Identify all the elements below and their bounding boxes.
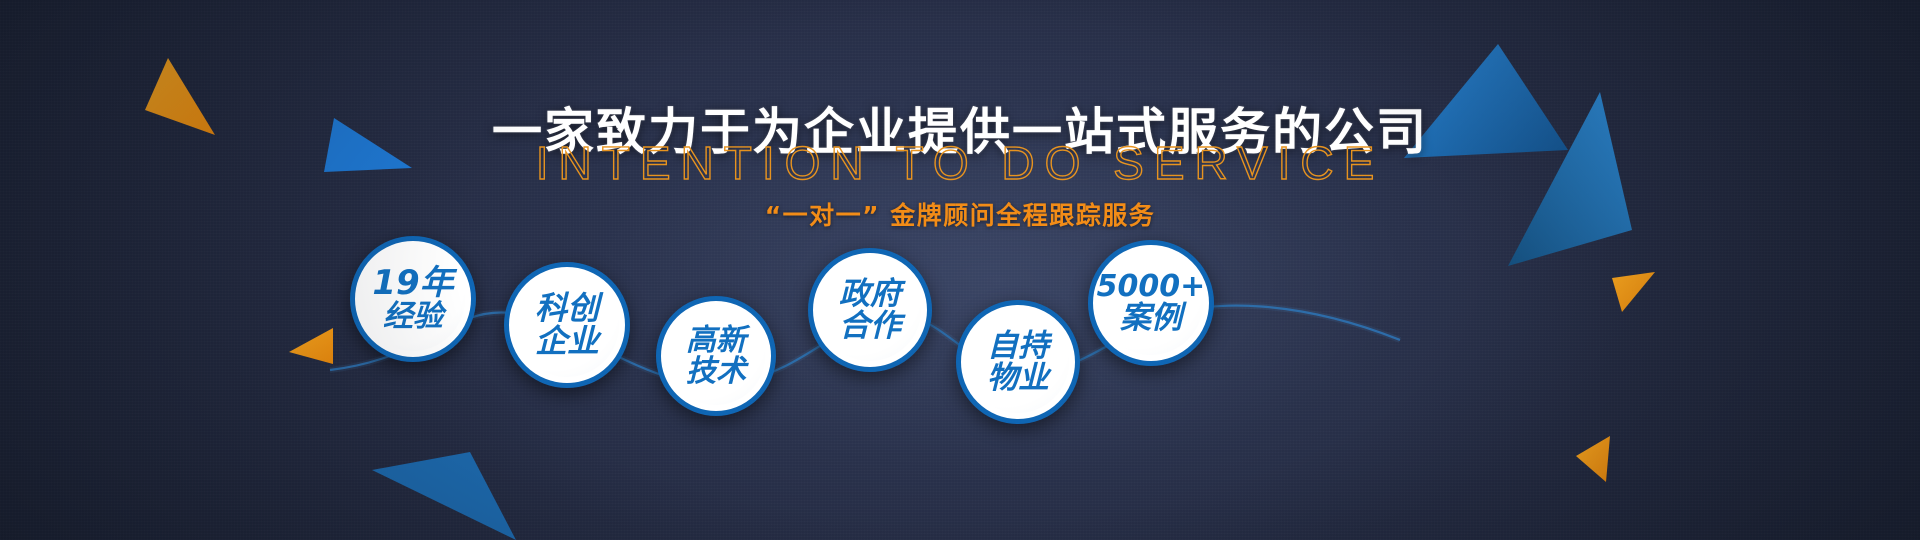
badge-line-secondary: 技术 [686, 356, 746, 387]
badge-circle[interactable]: 科创企业 [504, 262, 630, 388]
badge-circle[interactable]: 政府合作 [808, 248, 932, 372]
hero-banner: 一家致力于为企业提供一站式服务的公司 INTENTION TO DO SERVI… [0, 0, 1920, 540]
badge-line-primary: 科创 [535, 292, 599, 325]
badge-group: 19年经验科创企业高新技术政府合作自持物业5000+案例 [0, 0, 1920, 540]
badge-line-primary: 5000+ [1097, 271, 1206, 302]
badge-line-primary: 自持 [987, 330, 1049, 362]
badge-line-secondary: 合作 [839, 310, 901, 342]
badge-line-primary: 高新 [686, 325, 746, 356]
badge-line-primary: 19年 [372, 266, 453, 301]
badge-circle[interactable]: 自持物业 [956, 300, 1080, 424]
badge-line-secondary: 案例 [1120, 302, 1182, 334]
badge-line-primary: 政府 [839, 278, 901, 310]
badge-line-secondary: 经验 [383, 301, 443, 332]
badge-circle[interactable]: 19年经验 [350, 236, 476, 362]
badge-line-secondary: 企业 [535, 325, 599, 358]
badge-line-secondary: 物业 [987, 362, 1049, 394]
badge-circle[interactable]: 高新技术 [656, 296, 776, 416]
badge-circle[interactable]: 5000+案例 [1088, 240, 1214, 366]
